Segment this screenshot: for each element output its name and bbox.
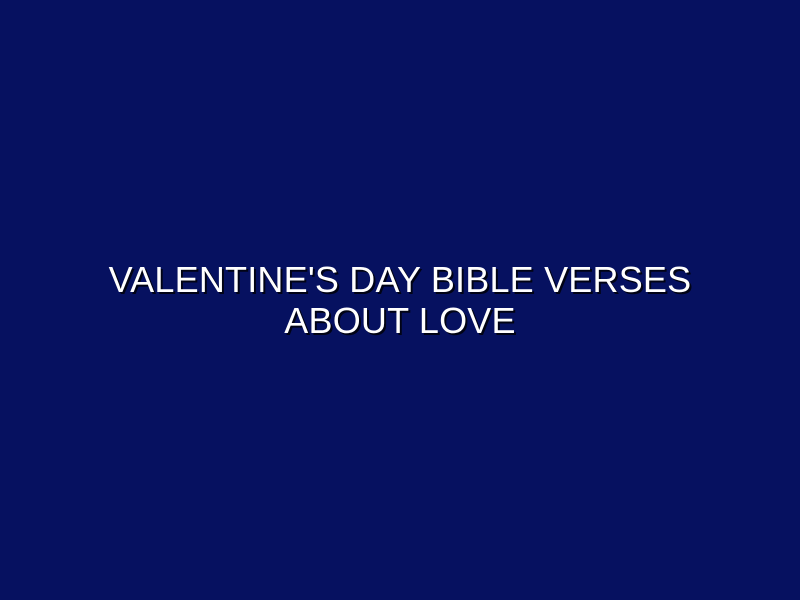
page-title: Valentine's Day Bible Verses About Love <box>60 259 740 341</box>
hero-banner: Valentine's Day Bible Verses About Love <box>0 0 800 600</box>
hero-title-container: Valentine's Day Bible Verses About Love <box>0 259 800 341</box>
